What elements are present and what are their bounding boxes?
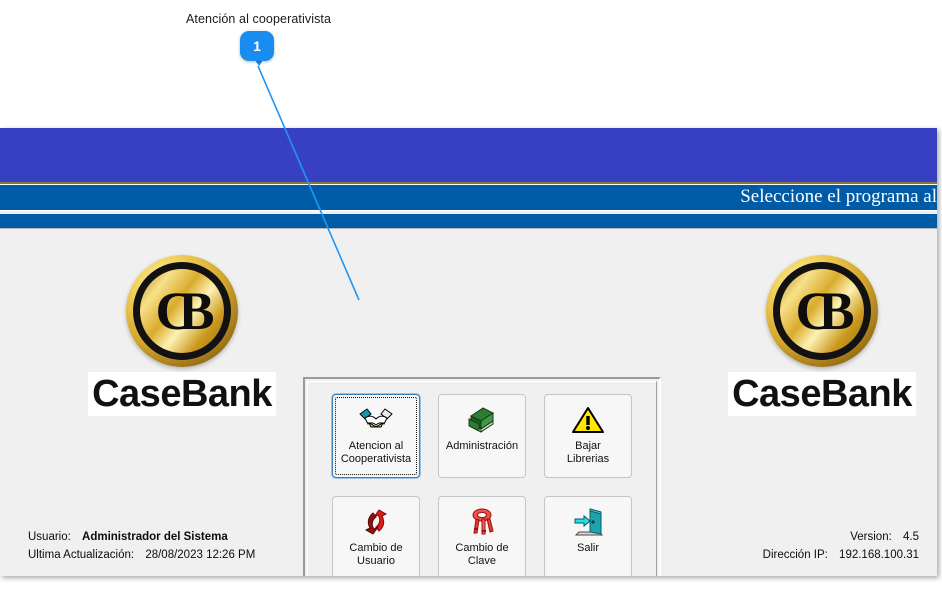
status-user-value: Administrador del Sistema	[82, 531, 228, 543]
annotation-label: Atención al cooperativista	[186, 12, 331, 26]
header-band-secondary	[0, 214, 937, 229]
brand-wordmark: CaseBank	[728, 372, 916, 416]
status-ip-row: Dirección IP: 192.168.100.31	[763, 549, 919, 561]
status-bar: Usuario: Administrador del Sistema Ultim…	[0, 519, 937, 576]
status-version-value: 4.5	[903, 531, 919, 543]
books-icon	[464, 403, 500, 437]
header-title-text: Seleccione el programa al	[740, 186, 937, 208]
coin-icon: CB	[126, 255, 238, 367]
status-update-value: 28/08/2023 12:26 PM	[145, 549, 255, 561]
warning-triangle-icon	[570, 403, 606, 437]
menu-button-label: Bajar Librerias	[567, 440, 609, 466]
brand-logo-left: CB CaseBank	[82, 255, 282, 416]
brand-wordmark: CaseBank	[88, 372, 276, 416]
status-version-row: Version: 4.5	[850, 531, 919, 543]
coin-monogram: CB	[795, 284, 838, 338]
header-title-bar: Seleccione el programa al	[0, 184, 937, 211]
status-version-label: Version:	[850, 531, 892, 543]
coin-icon: CB	[766, 255, 878, 367]
status-ip-label: Dirección IP:	[763, 549, 828, 561]
annotation-badge-1[interactable]: 1	[240, 31, 274, 61]
brand-logo-right: CB CaseBank	[722, 255, 922, 416]
menu-button-label: Atencion al Cooperativista	[341, 440, 411, 466]
status-user-label: Usuario:	[28, 531, 71, 543]
application-window: Seleccione el programa al CB CaseBank CB…	[0, 128, 937, 576]
menu-button-label: Administración	[446, 440, 518, 453]
status-update-label: Ultima Actualización:	[28, 549, 134, 561]
menu-button-administracion[interactable]: Administración	[438, 394, 526, 478]
handshake-icon	[358, 403, 394, 437]
window-body: CB CaseBank CB CaseBank	[0, 229, 937, 576]
menu-button-atencion-al-cooperativista[interactable]: Atencion al Cooperativista	[332, 394, 420, 478]
menu-button-bajar-librerias[interactable]: Bajar Librerias	[544, 394, 632, 478]
status-update-row: Ultima Actualización: 28/08/2023 12:26 P…	[28, 549, 255, 561]
coin-monogram: CB	[155, 284, 198, 338]
status-ip-value: 192.168.100.31	[839, 549, 919, 561]
header-band-primary	[0, 128, 937, 182]
status-user-row: Usuario: Administrador del Sistema	[28, 531, 228, 543]
